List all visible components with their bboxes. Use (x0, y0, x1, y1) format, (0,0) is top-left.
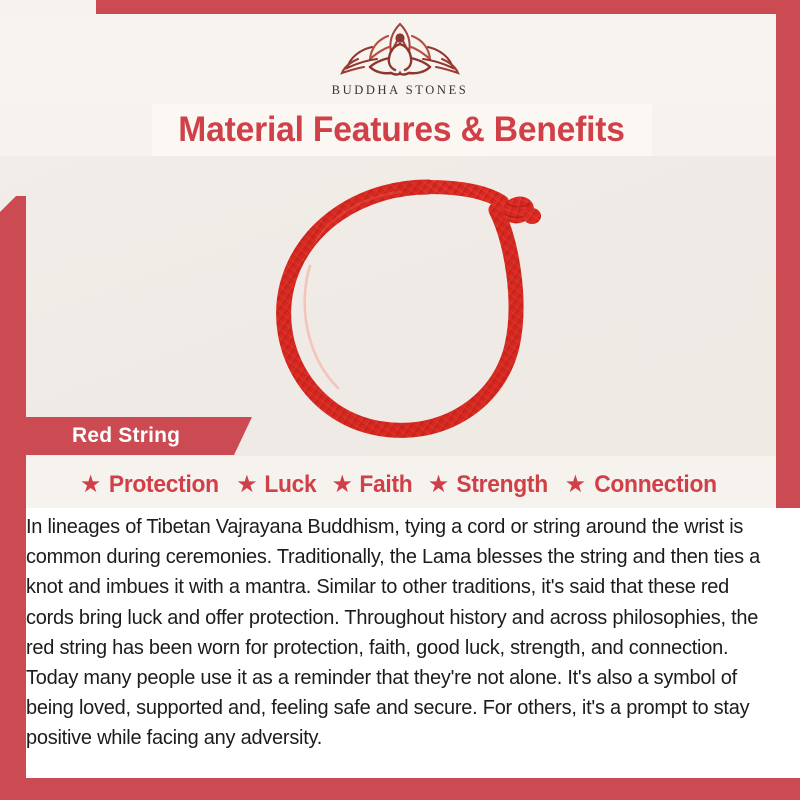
page-title: Material Features & Benefits (179, 110, 626, 150)
star-icon: ★ (236, 473, 258, 497)
benefit-label: Faith (359, 471, 412, 499)
brand-header: BUDDHA STONES (0, 14, 800, 106)
benefit-label: Strength (457, 471, 548, 499)
star-icon: ★ (80, 473, 102, 497)
brand-name: BUDDHA STONES (332, 83, 469, 98)
red-string-bracelet-image (250, 170, 570, 450)
frame-top-bar (96, 0, 800, 14)
star-icon: ★ (331, 473, 353, 497)
star-icon: ★ (428, 473, 450, 497)
product-label-text: Red String (72, 424, 180, 448)
description-panel: In lineages of Tibetan Vajrayana Buddhis… (26, 508, 800, 778)
lotus-meditation-icon (325, 16, 475, 80)
frame-bottom-bar (0, 778, 800, 800)
frame-right-bar (776, 0, 800, 510)
benefit-item-strength: ★ Strength (428, 471, 551, 499)
star-icon: ★ (565, 473, 587, 497)
product-label-ribbon: Red String (26, 417, 252, 455)
benefit-item-luck: ★ Luck (236, 471, 317, 499)
product-photo (0, 156, 800, 456)
infographic-poster: BUDDHA STONES Material Features & Benefi… (0, 0, 800, 800)
benefit-item-faith: ★ Faith (331, 471, 413, 499)
benefit-item-connection: ★ Connection (565, 471, 721, 499)
description-paragraph: In lineages of Tibetan Vajrayana Buddhis… (26, 512, 773, 754)
benefits-row: ★ Protection ★ Luck ★ Faith ★ Strength ★… (0, 462, 800, 508)
benefit-label: Connection (594, 471, 717, 499)
benefit-label: Luck (264, 471, 316, 499)
benefit-item-protection: ★ Protection (80, 471, 222, 499)
benefit-label: Protection (109, 471, 219, 499)
title-banner: Material Features & Benefits (152, 104, 652, 156)
